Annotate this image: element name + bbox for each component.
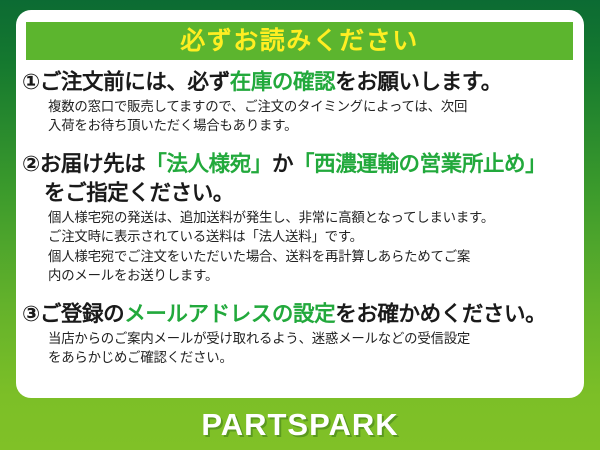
notice-item-1-heading-part-3: をお願いします。: [335, 70, 502, 94]
notice-item-3: ③ご登録のメールアドレスの設定をお確かめください。 当店からのご案内メールが受け…: [22, 300, 576, 367]
notice-item-1: ①ご注文前には、必ず在庫の確認をお願いします。 複数の窓口で販売してますので、ご…: [22, 68, 576, 135]
notice-item-1-heading-part-1: ご注文前には、必ず: [40, 70, 230, 94]
notice-item-2-sub-line-2: ご注文時に表示されている送料は「法人送料」です。: [22, 227, 576, 246]
notice-item-3-heading-highlight: メールアドレスの設定: [124, 302, 335, 326]
notice-card: 必ずお読みください ①ご注文前には、必ず在庫の確認をお願いします。 複数の窓口で…: [16, 10, 584, 398]
notice-item-3-heading: ③ご登録のメールアドレスの設定をお確かめください。: [22, 300, 576, 329]
header-banner: 必ずお読みください: [26, 22, 573, 60]
notice-item-3-heading-part-1: ご登録の: [40, 302, 124, 326]
notice-item-2: ②お届け先は「法人様宛」か「西濃運輸の営業所止め」 をご指定ください。 個人様宅…: [22, 150, 576, 285]
spacer-1: [22, 137, 576, 150]
page-title: 必ずお読みください: [180, 29, 419, 54]
notice-item-3-heading-part-3: をお確かめください。: [335, 302, 546, 326]
notice-item-2-marker: ②: [22, 152, 40, 176]
notice-item-2-heading-line2: をご指定ください。: [22, 179, 576, 208]
notice-list: ①ご注文前には、必ず在庫の確認をお願いします。 複数の窓口で販売してますので、ご…: [16, 68, 584, 370]
notice-item-2-heading-part-3: か: [272, 152, 293, 176]
notice-item-1-sub-line-2: 入荷をお待ち頂いただく場合もあります。: [22, 116, 576, 135]
notice-item-1-heading: ①ご注文前には、必ず在庫の確認をお願いします。: [22, 68, 576, 97]
notice-item-2-heading-highlight-1: 「法人様宛」: [145, 152, 272, 176]
notice-item-3-marker: ③: [22, 302, 40, 326]
notice-item-2-heading-highlight-2: 「西濃運輸の営業所止め」: [293, 152, 546, 176]
footer-brand-bar: PARTSPARK: [0, 400, 600, 450]
notice-item-2-heading-part-1: お届け先は: [40, 152, 146, 176]
notice-item-3-sub-line-2: をあらかじめご確認ください。: [22, 348, 576, 367]
spacer-2: [22, 287, 576, 300]
notice-item-2-sub-line-1: 個人様宅宛の発送は、追加送料が発生し、非常に高額となってしまいます。: [22, 208, 576, 227]
brand-logo-text: PARTSPARK: [201, 407, 398, 443]
notice-item-3-sub-line-1: 当店からのご案内メールが受け取れるよう、迷惑メールなどの受信設定: [22, 329, 576, 348]
notice-item-1-heading-highlight: 在庫の確認: [230, 70, 336, 94]
notice-item-1-marker: ①: [22, 70, 40, 94]
notice-item-2-sub-line-3: 個人様宅宛でご注文をいただいた場合、送料を再計算しあらためてご案: [22, 247, 576, 266]
notice-item-2-sub-line-4: 内のメールをお送りします。: [22, 266, 576, 285]
notice-item-1-sub-line-1: 複数の窓口で販売してますので、ご注文のタイミングによっては、次回: [22, 97, 576, 116]
notice-item-2-heading: ②お届け先は「法人様宛」か「西濃運輸の営業所止め」: [22, 150, 576, 179]
